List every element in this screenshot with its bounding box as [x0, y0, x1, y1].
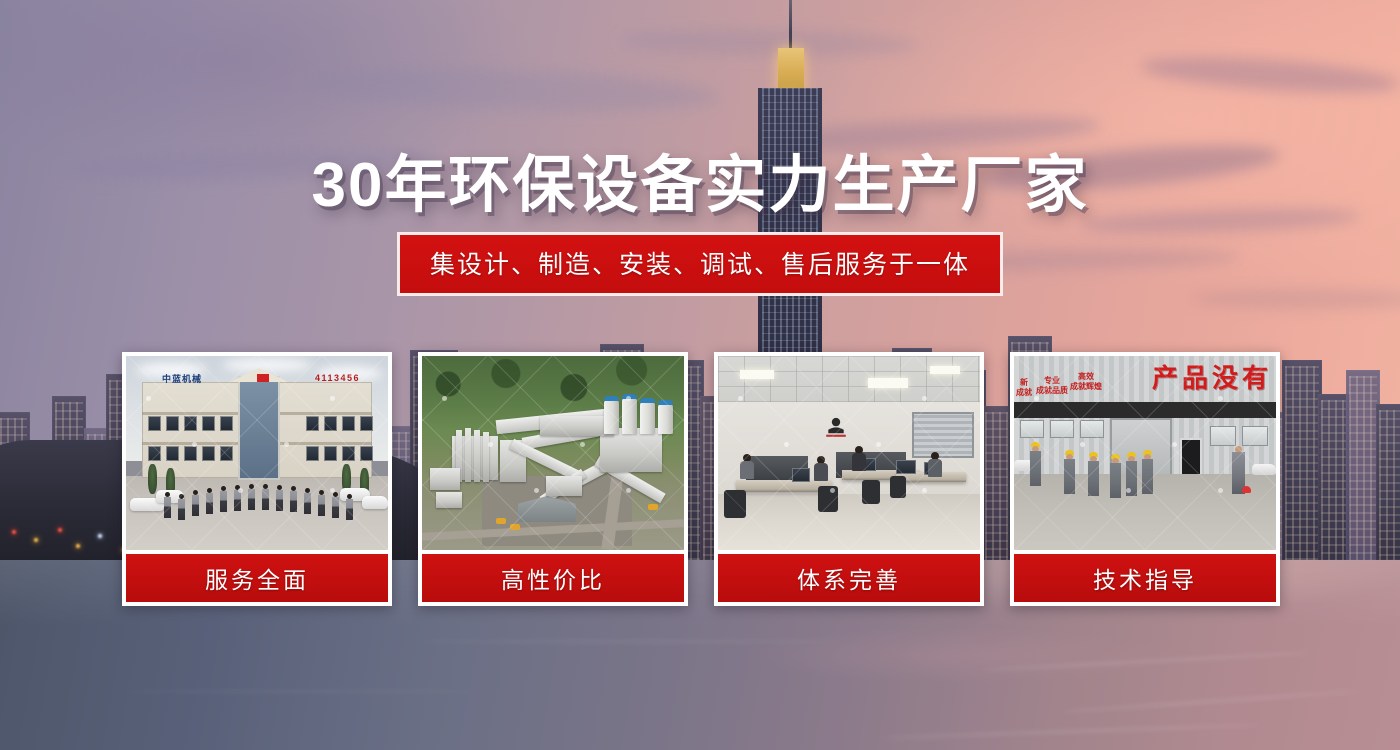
factory-workers-training-photo: 产品没有 新成就 专业成就品质 高效成就辉煌 — [1014, 356, 1276, 550]
card-label: 服务全面 — [126, 554, 388, 602]
subtitle-text: 集设计、制造、安装、调试、售后服务于一体 — [397, 232, 1003, 296]
feature-card[interactable]: 高性价比 — [418, 352, 688, 606]
feature-card[interactable]: 产品没有 新成就 专业成就品质 高效成就辉煌 — [1010, 352, 1280, 606]
card-label: 技术指导 — [1014, 554, 1276, 602]
feature-card-list: 中蓝机械 4113456 — [122, 352, 1278, 606]
water-ripple — [120, 690, 480, 693]
water-ripple — [420, 640, 840, 643]
feature-card[interactable]: 中蓝机械 4113456 — [122, 352, 392, 606]
subtitle-banner: 集设计、制造、安装、调试、售后服务于一体 — [0, 232, 1400, 296]
feature-card[interactable]: 体系完善 — [714, 352, 984, 606]
wall-emblem-icon — [822, 414, 850, 440]
tower-spire — [789, 0, 792, 50]
factory-sign-text: 产品没有 — [1152, 358, 1272, 395]
building-sign-text: 中蓝机械 — [162, 372, 202, 385]
office-building-staff-photo: 中蓝机械 4113456 — [126, 356, 388, 550]
hero-banner: 30年环保设备实力生产厂家 集设计、制造、安装、调试、售后服务于一体 — [0, 0, 1400, 750]
office-interior-team-photo — [718, 356, 980, 550]
industrial-plant-aerial-photo — [422, 356, 684, 550]
card-label: 高性价比 — [422, 554, 684, 602]
building-phone-number: 4113456 — [315, 373, 360, 383]
page-title: 30年环保设备实力生产厂家 — [0, 134, 1400, 224]
card-label: 体系完善 — [718, 554, 980, 602]
